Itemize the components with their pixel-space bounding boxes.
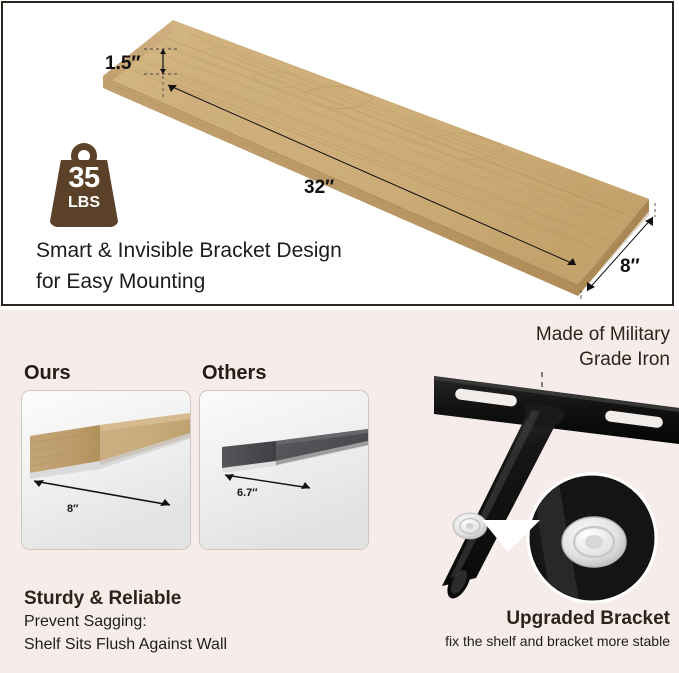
military-grade-line1: Made of Military xyxy=(420,322,670,347)
length-dimension-label: 32″ xyxy=(304,177,334,199)
weight-unit: LBS xyxy=(49,195,119,211)
military-grade-line2: Grade Iron xyxy=(420,347,670,372)
weight-capacity-badge: 35 LBS xyxy=(49,143,119,227)
depth-dimension-label: 8″ xyxy=(620,256,640,278)
upgraded-bracket-subtitle: fix the shelf and bracket more stable xyxy=(330,633,670,649)
comparison-label-others: Others xyxy=(202,362,266,385)
page-title-line2: for Easy Mounting xyxy=(36,266,466,297)
sturdy-heading: Sturdy & Reliable xyxy=(24,588,181,610)
bracket-illustration xyxy=(380,370,679,615)
ours-shelf-illustration xyxy=(22,391,190,549)
military-grade-callout: Made of Military Grade Iron xyxy=(420,322,670,372)
top-panel: 1.5″ 32″ 8″ 35 LBS Smart & Invisible Bra… xyxy=(1,1,674,306)
weight-value: 35 xyxy=(49,164,119,193)
product-infographic: 1.5″ 32″ 8″ 35 LBS Smart & Invisible Bra… xyxy=(0,0,679,673)
comparison-card-ours: 8″ xyxy=(21,390,191,550)
page-title: Smart & Invisible Bracket Design for Eas… xyxy=(36,235,466,297)
others-depth-label: 6.7″ xyxy=(237,487,258,499)
others-shelf-illustration xyxy=(200,391,368,549)
sturdy-line1: Prevent Sagging: xyxy=(24,613,147,631)
upgraded-bracket-heading: Upgraded Bracket xyxy=(380,608,670,630)
ours-depth-label: 8″ xyxy=(67,503,78,515)
sturdy-line2: Shelf Sits Flush Against Wall xyxy=(24,636,227,654)
page-title-line1: Smart & Invisible Bracket Design xyxy=(36,235,466,266)
comparison-card-others: 6.7″ xyxy=(199,390,369,550)
thickness-dimension-label: 1.5″ xyxy=(105,53,141,75)
comparison-label-ours: Ours xyxy=(24,362,71,385)
